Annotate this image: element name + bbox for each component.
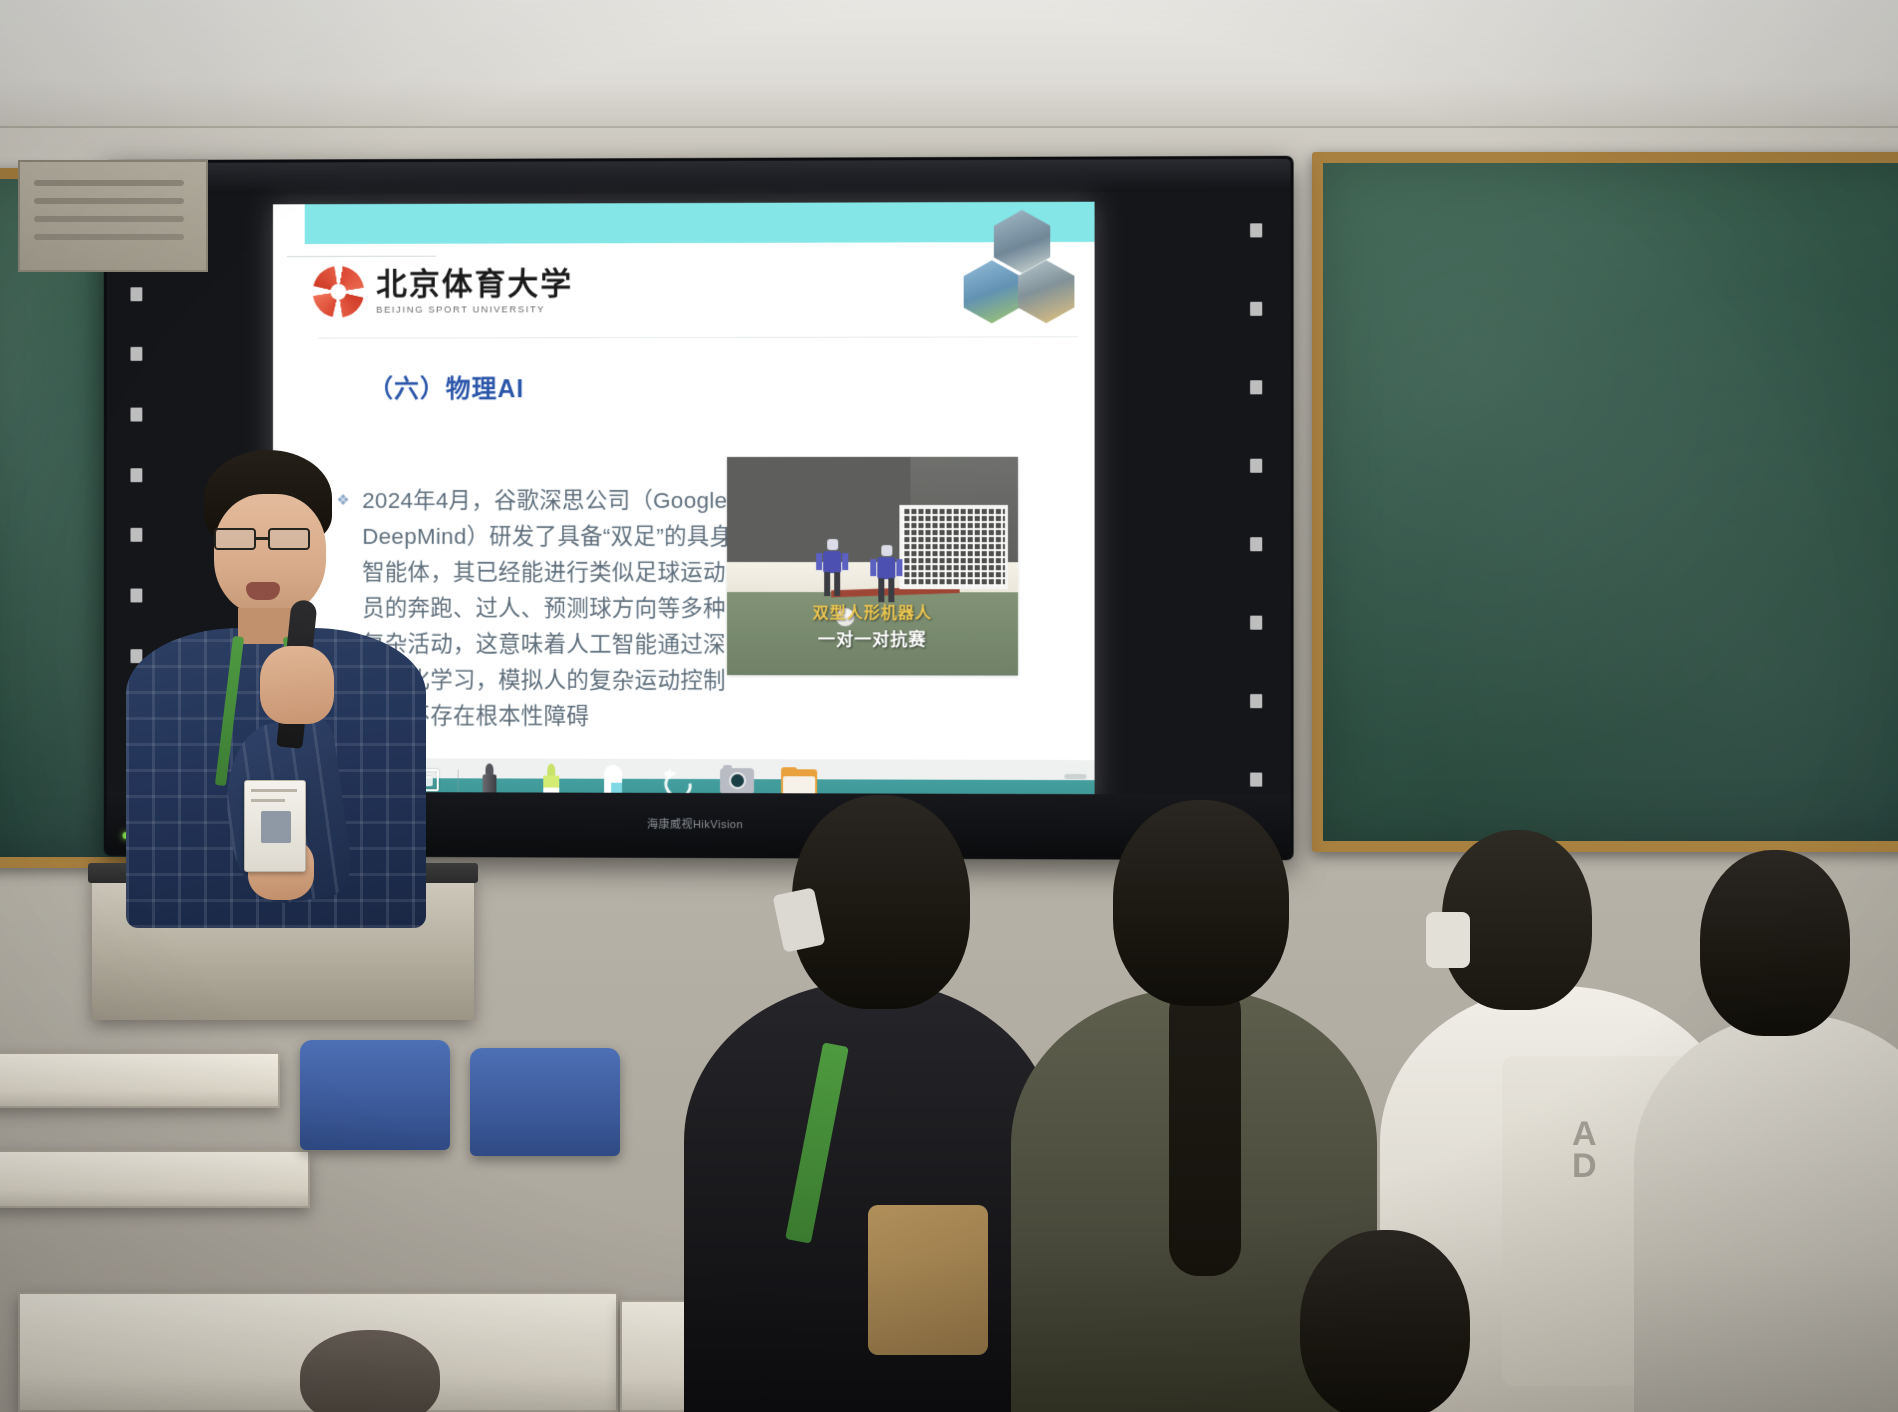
figure-caption-line2: 一对一对抗赛: [727, 625, 1018, 650]
student: [1240, 1230, 1570, 1412]
slide-rule-top: [287, 256, 436, 257]
hexagon-photo-cluster: [936, 208, 1077, 339]
presenter: [96, 450, 426, 920]
touch-sensor-dot: [1250, 223, 1262, 237]
slide-title: （六）物理AI: [368, 369, 524, 405]
toolbar-spacer: [830, 781, 1094, 782]
robot-leg: [824, 572, 830, 596]
lectern-lower-panel: [18, 160, 208, 272]
toolbar-collapse-handle[interactable]: [1064, 774, 1086, 779]
upper-wall: [0, 0, 1898, 132]
touch-sensor-dot: [1250, 302, 1262, 316]
touch-sensor-dot: [1250, 380, 1262, 394]
hexagon-photo: [964, 260, 1020, 323]
robot-arm: [816, 553, 822, 570]
robot-arm: [870, 559, 876, 576]
robot-arm: [842, 553, 848, 570]
student-chair: [470, 1048, 620, 1156]
humanoid-robot: [819, 539, 845, 597]
student: [1660, 850, 1898, 1412]
student-desk: [0, 1052, 280, 1108]
chalkboard-right: [1312, 152, 1898, 852]
university-name-cn: 北京体育大学: [376, 268, 573, 299]
robot-torso: [877, 557, 895, 579]
touch-sensor-dot: [1250, 459, 1262, 473]
student-desk: [0, 1150, 310, 1208]
student-head: [1300, 1230, 1470, 1412]
presenter-mouth: [246, 582, 280, 600]
undo-icon[interactable]: [661, 768, 689, 794]
folder-icon[interactable]: [781, 767, 817, 795]
university-name-en: BEIJING SPORT UNIVERSITY: [376, 304, 573, 315]
student-head: [300, 1330, 440, 1412]
touch-sensor-dot: [1250, 773, 1262, 787]
touch-sensor-dot: [1250, 537, 1262, 551]
robot-arm: [896, 559, 902, 576]
vent-slot: [34, 180, 184, 186]
student-head: [1700, 850, 1850, 1036]
student-head: [1113, 800, 1289, 1006]
touch-sensor-dot: [1250, 694, 1262, 708]
figure-caption-line1: 双型人形机器人: [727, 599, 1018, 623]
touch-sensor-dot: [130, 408, 142, 422]
presenter-id-badge: [244, 780, 306, 872]
humanoid-robot: [873, 545, 899, 603]
shoulder-bag: [868, 1205, 988, 1355]
bsu-swirl-icon: [313, 266, 365, 318]
robot-torso: [823, 551, 841, 573]
student-head: [792, 795, 970, 1009]
robot-leg: [834, 572, 840, 596]
touch-sensor-dot: [1250, 616, 1262, 630]
vent-slot: [34, 234, 184, 240]
camera-icon[interactable]: [720, 768, 754, 794]
student-shoulders: [1634, 1014, 1898, 1412]
student: [700, 795, 1030, 1412]
vest-graphic-print: AD: [1572, 1118, 1598, 1182]
face-mask: [1426, 912, 1470, 968]
touch-sensor-dot: [130, 347, 142, 361]
glasses-icon: [212, 528, 328, 550]
touch-sensor-dot: [130, 287, 142, 301]
university-logo: 北京体育大学 BEIJING SPORT UNIVERSITY: [313, 265, 574, 317]
vent-slot: [34, 216, 184, 222]
presenter-hand-upper: [260, 646, 334, 724]
classroom-scene: 北京体育大学 BEIJING SPORT UNIVERSITY （六）物理AI …: [0, 0, 1898, 1412]
ponytail: [1169, 976, 1241, 1276]
ir-touch-strip-right: [1250, 223, 1266, 786]
student-chair: [300, 1040, 450, 1150]
robot-head: [881, 545, 892, 556]
goal-net-icon: [899, 505, 1008, 589]
robot-football-photo: 双型人形机器人 一对一对抗赛: [727, 457, 1018, 676]
vent-slot: [34, 198, 184, 204]
robot-head: [827, 539, 838, 550]
display-bezel-top: [107, 159, 1291, 195]
student: [280, 1330, 470, 1412]
